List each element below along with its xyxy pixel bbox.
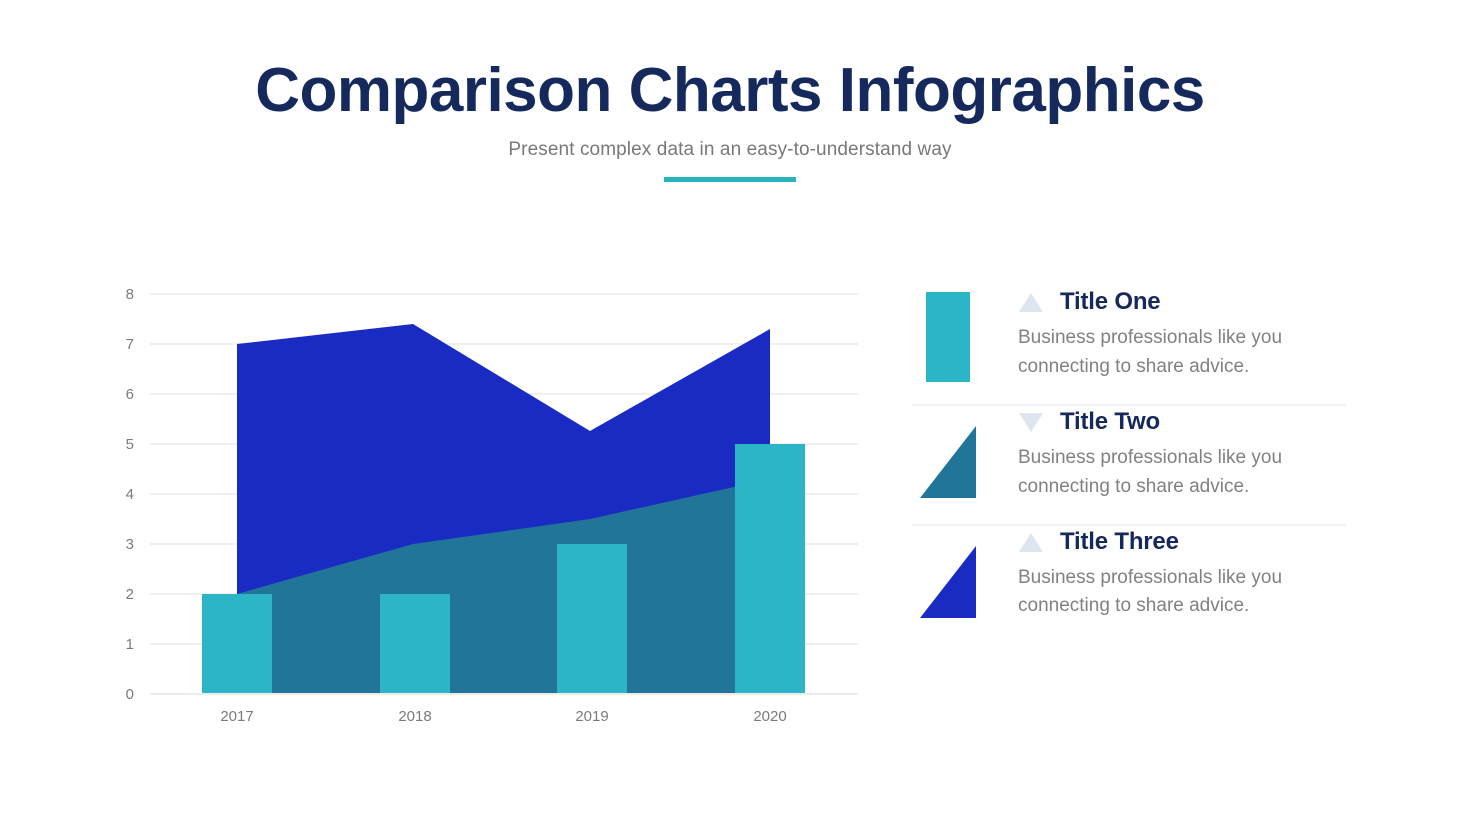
legend-swatch-rectangle <box>912 286 984 378</box>
legend-swatch-triangle <box>912 406 984 498</box>
y-tick-label: 4 <box>126 486 134 503</box>
bar-2020 <box>735 444 805 694</box>
bar-2017 <box>202 594 272 694</box>
legend-title: Title Two <box>1060 408 1160 436</box>
y-tick-label: 8 <box>126 286 134 303</box>
x-tick-label-2019: 2019 <box>575 708 608 725</box>
area-swatch-icon <box>914 412 982 504</box>
legend-heading-row: Title One <box>1018 288 1348 316</box>
legend-title: Title Three <box>1060 528 1179 556</box>
triangle-down-icon <box>1018 411 1044 433</box>
legend-item-title-two[interactable]: Title Two Business professionals like yo… <box>912 406 1348 524</box>
legend-description: Business professionals like you connecti… <box>1018 324 1338 382</box>
y-tick-label: 1 <box>126 636 134 653</box>
slide-canvas: Comparison Charts Infographics Present c… <box>0 0 1460 821</box>
legend-body: Title Two Business professionals like yo… <box>1018 406 1348 502</box>
legend-body: Title Three Business professionals like … <box>1018 526 1348 622</box>
x-tick-label-2020: 2020 <box>753 708 786 725</box>
legend-body: Title One Business professionals like yo… <box>1018 286 1348 382</box>
page-subtitle: Present complex data in an easy-to-under… <box>0 139 1460 161</box>
legend-description: Business professionals like you connecti… <box>1018 564 1338 622</box>
y-tick-label: 2 <box>126 586 134 603</box>
legend-item-title-one[interactable]: Title One Business professionals like yo… <box>912 286 1348 404</box>
legend-heading-row: Title Two <box>1018 408 1348 436</box>
triangle-up-icon <box>1018 291 1044 313</box>
y-tick-label: 7 <box>126 336 134 353</box>
legend-title: Title One <box>1060 288 1160 316</box>
y-tick-label: 6 <box>126 386 134 403</box>
legend-description: Business professionals like you connecti… <box>1018 444 1338 502</box>
page-title: Comparison Charts Infographics <box>0 58 1460 123</box>
bar-swatch-icon <box>926 292 970 382</box>
chart-svg: 8 7 6 5 4 3 2 1 0 <box>110 280 880 735</box>
y-tick-label: 5 <box>126 436 134 453</box>
legend-panel: Title One Business professionals like yo… <box>912 286 1348 643</box>
accent-underline <box>664 177 796 182</box>
x-tick-label-2017: 2017 <box>220 708 253 725</box>
x-tick-label-2018: 2018 <box>398 708 431 725</box>
comparison-chart: 8 7 6 5 4 3 2 1 0 <box>110 280 880 735</box>
y-tick-label: 3 <box>126 536 134 553</box>
legend-item-title-three[interactable]: Title Three Business professionals like … <box>912 526 1348 644</box>
triangle-up-icon <box>1018 531 1044 553</box>
slide-header: Comparison Charts Infographics Present c… <box>0 58 1460 182</box>
legend-heading-row: Title Three <box>1018 528 1348 556</box>
legend-swatch-triangle <box>912 526 984 618</box>
x-axis-ticks: 2017 2018 2019 2020 <box>220 708 786 725</box>
bar-2018 <box>380 594 450 694</box>
y-tick-label: 0 <box>126 686 134 703</box>
bar-2019 <box>557 544 627 694</box>
area-swatch-icon <box>914 532 982 624</box>
y-axis-ticks: 8 7 6 5 4 3 2 1 0 <box>126 286 134 703</box>
